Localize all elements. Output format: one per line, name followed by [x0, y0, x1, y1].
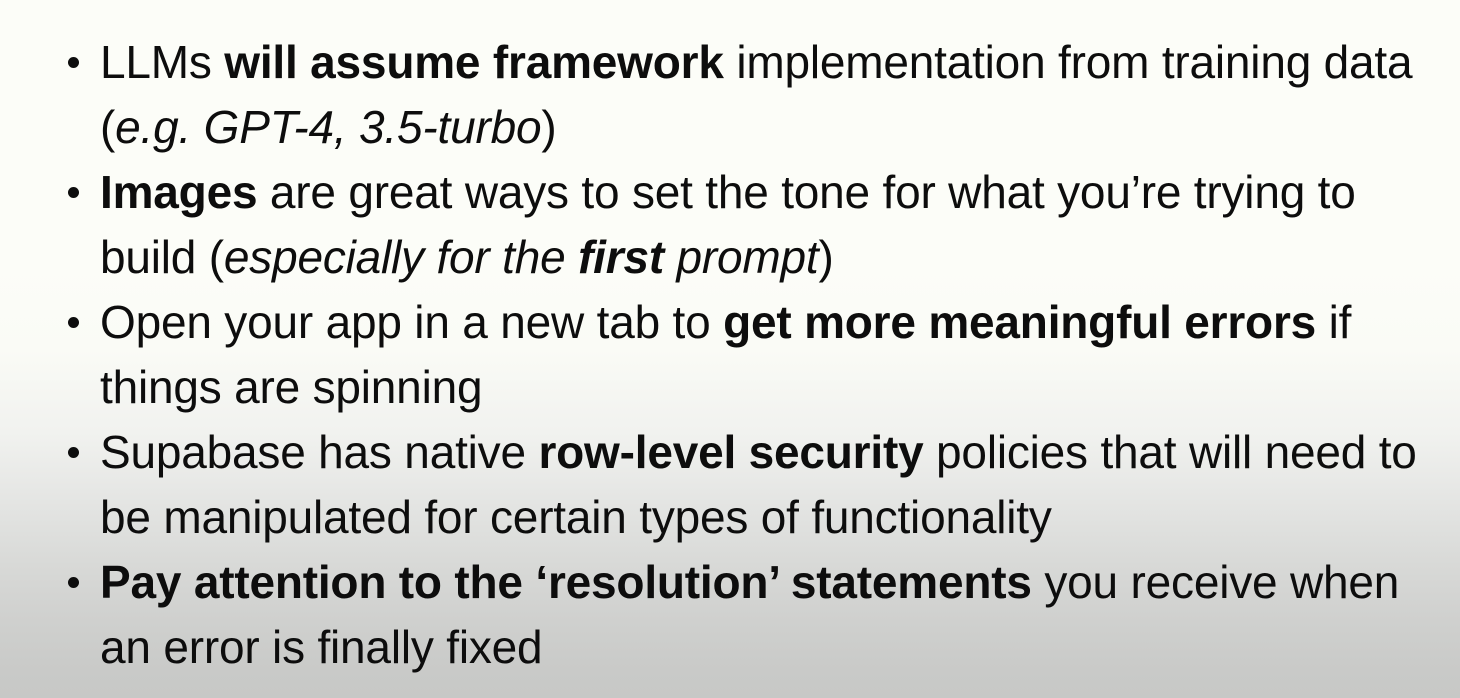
text-run: get more meaningful errors — [723, 296, 1316, 348]
text-run: prompt — [664, 231, 819, 283]
text-run: ) — [819, 231, 834, 283]
text-run: e.g. GPT-4, 3.5-turbo — [115, 101, 541, 153]
bullet-text: Supabase has native row-level security p… — [100, 420, 1446, 550]
text-run: Open your app in a new tab to — [100, 296, 723, 348]
bullet-text: Open your app in a new tab to get more m… — [100, 290, 1446, 420]
text-run: Images — [100, 166, 257, 218]
bullet-dot-icon — [68, 317, 79, 328]
text-run: ) — [541, 101, 556, 153]
text-run: Supabase has native — [100, 426, 538, 478]
text-run: especially for the — [224, 231, 578, 283]
bullet-text: Pay attention to the ‘resolution’ statem… — [100, 550, 1446, 680]
presentation-slide: LLMs will assume framework implementatio… — [0, 0, 1460, 698]
bullet-dot-icon — [68, 447, 79, 458]
bullet-text: LLMs will assume framework implementatio… — [100, 30, 1446, 160]
bullet-list-item: Supabase has native row-level security p… — [0, 420, 1460, 550]
bullet-dot-icon — [68, 577, 79, 588]
bullet-dot-icon — [68, 187, 79, 198]
bullet-list: LLMs will assume framework implementatio… — [0, 0, 1460, 680]
text-run: will assume framework — [224, 36, 723, 88]
bullet-list-item: Pay attention to the ‘resolution’ statem… — [0, 550, 1460, 680]
text-run: first — [578, 231, 664, 283]
text-run: LLMs — [100, 36, 224, 88]
bullet-text: Images are great ways to set the tone fo… — [100, 160, 1446, 290]
bullet-list-item: LLMs will assume framework implementatio… — [0, 30, 1460, 160]
bullet-list-item: Images are great ways to set the tone fo… — [0, 160, 1460, 290]
bullet-list-item: Open your app in a new tab to get more m… — [0, 290, 1460, 420]
text-run: row-level security — [538, 426, 923, 478]
bullet-dot-icon — [68, 57, 79, 68]
text-run: Pay attention to the ‘resolution’ statem… — [100, 556, 1032, 608]
